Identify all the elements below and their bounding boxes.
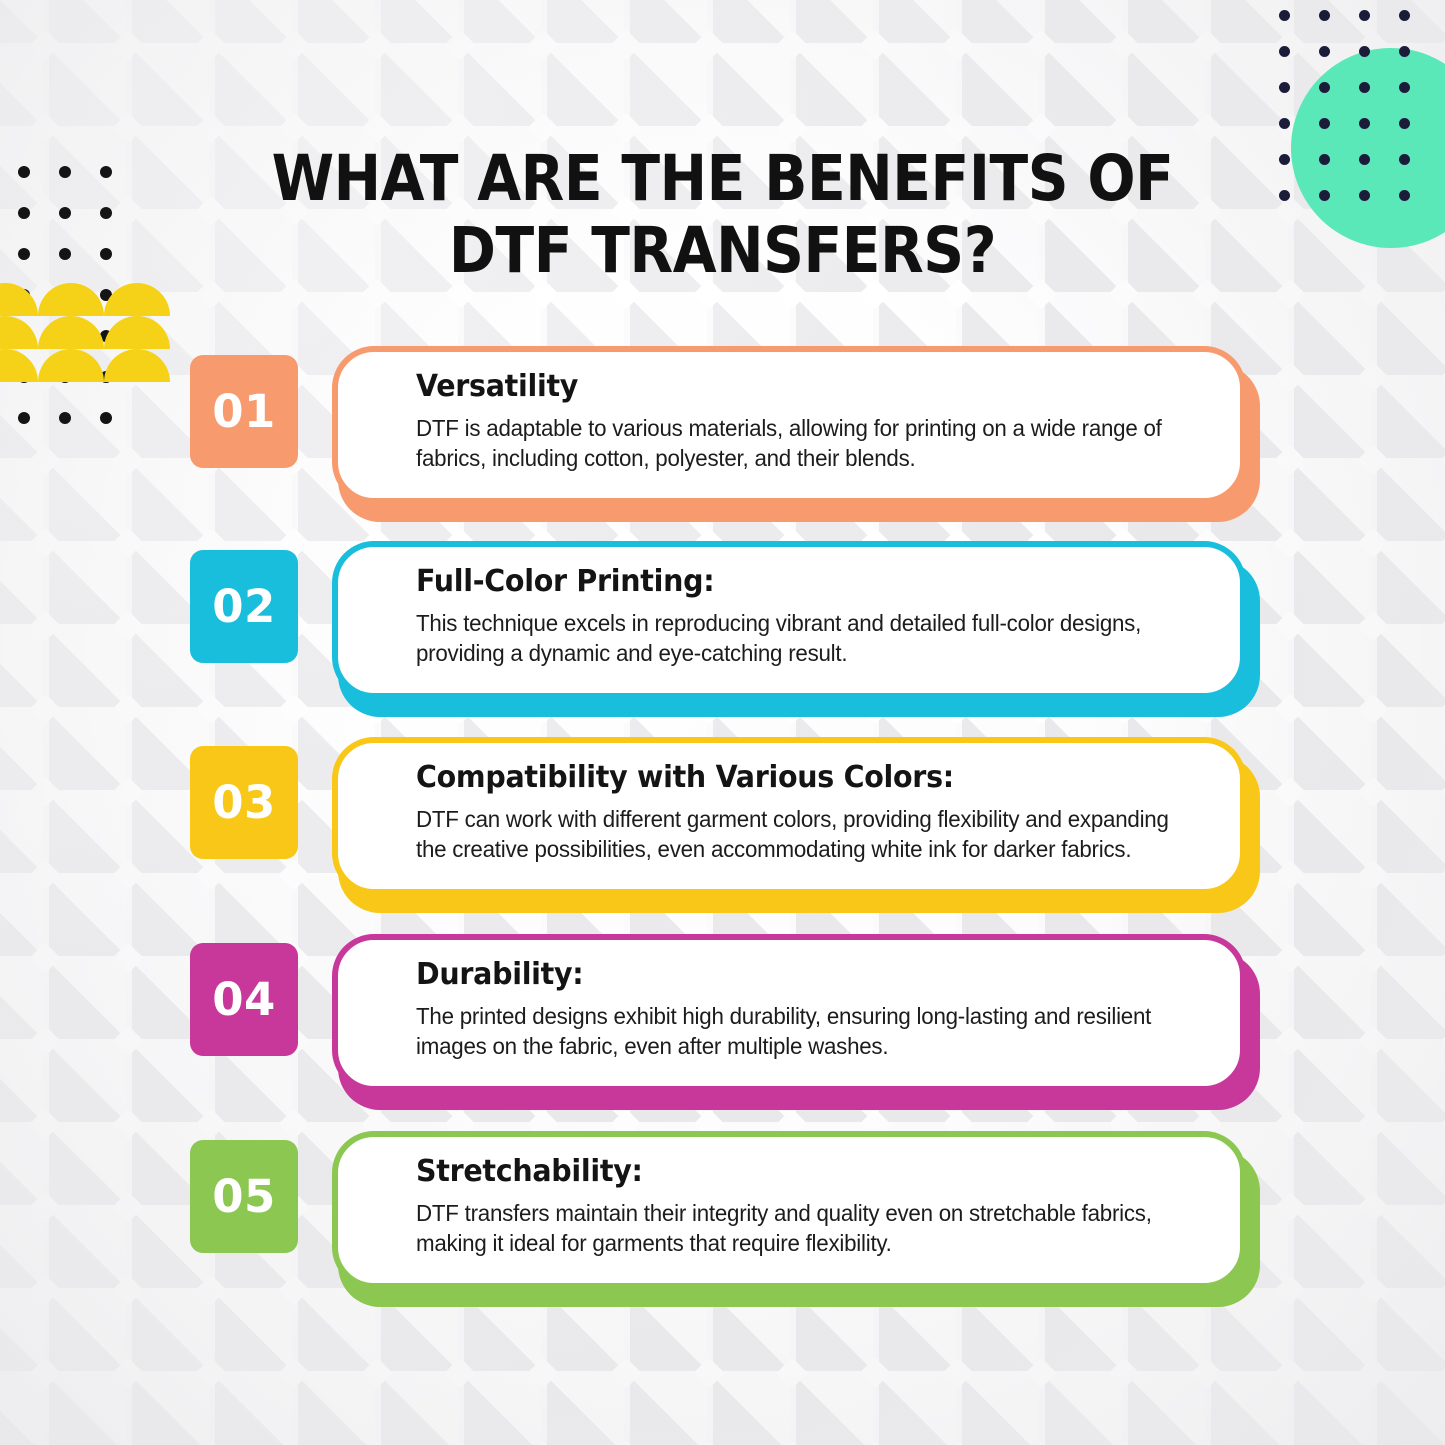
dot xyxy=(59,207,71,219)
benefit-number-badge: 02 xyxy=(190,550,298,663)
dot xyxy=(1359,46,1370,57)
semicircle xyxy=(104,316,170,349)
dot xyxy=(1359,154,1370,165)
benefit-card[interactable]: VersatilityDTF is adaptable to various m… xyxy=(332,346,1260,518)
dot xyxy=(1319,118,1330,129)
benefit-number-badge: 03 xyxy=(190,746,298,859)
benefit-number-badge: 05 xyxy=(190,1140,298,1253)
benefit-row: 02Full-Color Printing:This technique exc… xyxy=(0,541,1445,736)
dot xyxy=(1279,10,1290,21)
benefit-card-body: Stretchability:DTF transfers maintain th… xyxy=(332,1131,1246,1289)
semicircle xyxy=(0,283,38,316)
dot xyxy=(18,289,30,301)
dot xyxy=(1399,82,1410,93)
benefit-description: DTF transfers maintain their integrity a… xyxy=(416,1198,1170,1259)
dot xyxy=(18,248,30,260)
benefit-description: DTF is adaptable to various materials, a… xyxy=(416,413,1170,474)
benefit-card-body: VersatilityDTF is adaptable to various m… xyxy=(332,346,1246,504)
benefit-card[interactable]: Full-Color Printing:This technique excel… xyxy=(332,541,1260,713)
benefit-row: 05Stretchability:DTF transfers maintain … xyxy=(0,1131,1445,1326)
arch-row xyxy=(0,316,172,349)
benefit-description: DTF can work with different garment colo… xyxy=(416,804,1170,865)
dot xyxy=(1279,118,1290,129)
dot xyxy=(1359,118,1370,129)
infographic-canvas: WHAT ARE THE BENEFITS OF DTF TRANSFERS? … xyxy=(0,0,1445,1445)
benefit-heading: Compatibility with Various Colors: xyxy=(416,761,1170,795)
dot xyxy=(1399,46,1410,57)
mint-circle-decoration xyxy=(1291,48,1445,248)
dot xyxy=(1359,190,1370,201)
dot xyxy=(1359,10,1370,21)
benefit-description: The printed designs exhibit high durabil… xyxy=(416,1001,1170,1062)
benefit-card[interactable]: Compatibility with Various Colors:DTF ca… xyxy=(332,737,1260,909)
dot xyxy=(1399,118,1410,129)
dot xyxy=(1319,82,1330,93)
dot xyxy=(18,330,30,342)
dot xyxy=(1319,154,1330,165)
semicircle xyxy=(38,283,104,316)
benefit-number: 05 xyxy=(212,1170,276,1223)
dot xyxy=(18,166,30,178)
benefit-card-body: Compatibility with Various Colors:DTF ca… xyxy=(332,737,1246,895)
benefit-number: 02 xyxy=(212,580,276,633)
dot xyxy=(18,207,30,219)
benefit-heading: Full-Color Printing: xyxy=(416,565,1170,599)
benefit-number: 04 xyxy=(212,973,276,1026)
dot xyxy=(1399,154,1410,165)
dot xyxy=(100,166,112,178)
dot xyxy=(1319,10,1330,21)
benefit-heading: Stretchability: xyxy=(416,1155,1170,1189)
semicircle xyxy=(0,316,38,349)
dot xyxy=(1319,190,1330,201)
dot xyxy=(100,289,112,301)
benefit-row: 03Compatibility with Various Colors:DTF … xyxy=(0,737,1445,932)
dot xyxy=(1279,46,1290,57)
dot xyxy=(1319,46,1330,57)
page-title: WHAT ARE THE BENEFITS OF DTF TRANSFERS? xyxy=(225,143,1220,287)
dot xyxy=(100,248,112,260)
dot xyxy=(1399,190,1410,201)
dot xyxy=(1359,82,1370,93)
navy-dot-grid-decoration xyxy=(1279,10,1439,226)
semicircle xyxy=(38,316,104,349)
benefit-card-body: Durability:The printed designs exhibit h… xyxy=(332,934,1246,1092)
benefit-heading: Versatility xyxy=(416,370,1170,404)
benefit-row: 04Durability:The printed designs exhibit… xyxy=(0,934,1445,1129)
benefit-card-body: Full-Color Printing:This technique excel… xyxy=(332,541,1246,699)
semicircle xyxy=(104,283,170,316)
benefit-number: 03 xyxy=(212,776,276,829)
benefit-number-badge: 04 xyxy=(190,943,298,1056)
dot xyxy=(100,207,112,219)
benefit-heading: Durability: xyxy=(416,958,1170,992)
arch-row xyxy=(0,283,172,316)
dot xyxy=(1399,10,1410,21)
dot xyxy=(59,289,71,301)
benefit-row: 01VersatilityDTF is adaptable to various… xyxy=(0,346,1445,541)
benefit-description: This technique excels in reproducing vib… xyxy=(416,608,1170,669)
dot xyxy=(1279,154,1290,165)
benefit-card[interactable]: Durability:The printed designs exhibit h… xyxy=(332,934,1260,1106)
dot xyxy=(59,330,71,342)
benefit-card[interactable]: Stretchability:DTF transfers maintain th… xyxy=(332,1131,1260,1303)
benefit-number: 01 xyxy=(212,385,276,438)
dot xyxy=(1279,190,1290,201)
dot xyxy=(1279,82,1290,93)
dot xyxy=(59,166,71,178)
dot xyxy=(59,248,71,260)
benefit-number-badge: 01 xyxy=(190,355,298,468)
dot xyxy=(100,330,112,342)
